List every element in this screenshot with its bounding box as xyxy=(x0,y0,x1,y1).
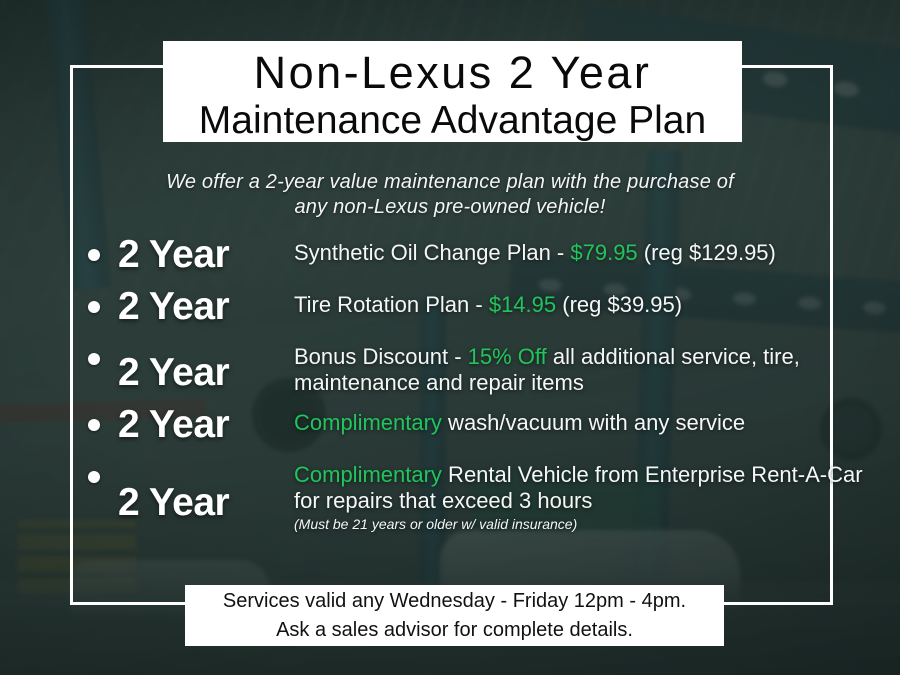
offer-term: 2 Year xyxy=(118,336,294,396)
offer-description: Complimentary Rental Vehicle from Enterp… xyxy=(294,454,878,533)
offer-highlight-discount: 15% Off xyxy=(468,344,547,369)
footer-banner: Services valid any Wednesday - Friday 12… xyxy=(185,585,724,646)
bullet-dot-icon xyxy=(88,301,100,313)
offer-tail-text: (reg $129.95) xyxy=(638,240,776,265)
offer-highlight-complimentary: Complimentary xyxy=(294,410,442,435)
offer-highlight-price: $79.95 xyxy=(570,240,637,265)
offer-term: 2 Year xyxy=(118,232,294,278)
subtitle-text: We offer a 2-year value maintenance plan… xyxy=(150,170,750,220)
list-item: 2 Year Synthetic Oil Change Plan - $79.9… xyxy=(88,232,878,278)
title-banner: Non-Lexus 2 Year Maintenance Advantage P… xyxy=(163,41,742,142)
offer-tail-text: wash/vacuum with any service xyxy=(442,410,745,435)
footer-line-1: Services valid any Wednesday - Friday 12… xyxy=(185,585,724,616)
offer-description: Synthetic Oil Change Plan - $79.95 (reg … xyxy=(294,232,878,266)
offer-description: Bonus Discount - 15% Off all additional … xyxy=(294,336,878,396)
list-item: 2 Year Complimentary Rental Vehicle from… xyxy=(88,454,878,533)
footer-line-2: Ask a sales advisor for complete details… xyxy=(185,616,724,645)
bullet-dot-icon xyxy=(88,419,100,431)
page-title-line-2: Maintenance Advantage Plan xyxy=(163,99,742,143)
offer-description: Tire Rotation Plan - $14.95 (reg $39.95) xyxy=(294,284,878,318)
offer-highlight-complimentary: Complimentary xyxy=(294,462,442,487)
page-title-line-1: Non-Lexus 2 Year xyxy=(163,41,742,99)
offer-tail-text: (reg $39.95) xyxy=(556,292,682,317)
offer-lead-text: Synthetic Oil Change Plan - xyxy=(294,240,570,265)
bullet-dot-icon xyxy=(88,471,100,483)
list-item: 2 Year Complimentary wash/vacuum with an… xyxy=(88,402,878,448)
offer-term: 2 Year xyxy=(118,284,294,330)
offer-fineprint: (Must be 21 years or older w/ valid insu… xyxy=(294,515,878,533)
bullet-dot-icon xyxy=(88,249,100,261)
list-item: 2 Year Tire Rotation Plan - $14.95 (reg … xyxy=(88,284,878,330)
offer-description: Complimentary wash/vacuum with any servi… xyxy=(294,402,878,436)
offer-term: 2 Year xyxy=(118,402,294,448)
offer-lead-text: Bonus Discount - xyxy=(294,344,468,369)
offer-term: 2 Year xyxy=(118,454,294,526)
offer-lead-text: Tire Rotation Plan - xyxy=(294,292,489,317)
offer-list: 2 Year Synthetic Oil Change Plan - $79.9… xyxy=(88,232,878,539)
list-item: 2 Year Bonus Discount - 15% Off all addi… xyxy=(88,336,878,396)
promo-poster: Non-Lexus 2 Year Maintenance Advantage P… xyxy=(0,0,900,675)
bullet-dot-icon xyxy=(88,353,100,365)
offer-highlight-price: $14.95 xyxy=(489,292,556,317)
